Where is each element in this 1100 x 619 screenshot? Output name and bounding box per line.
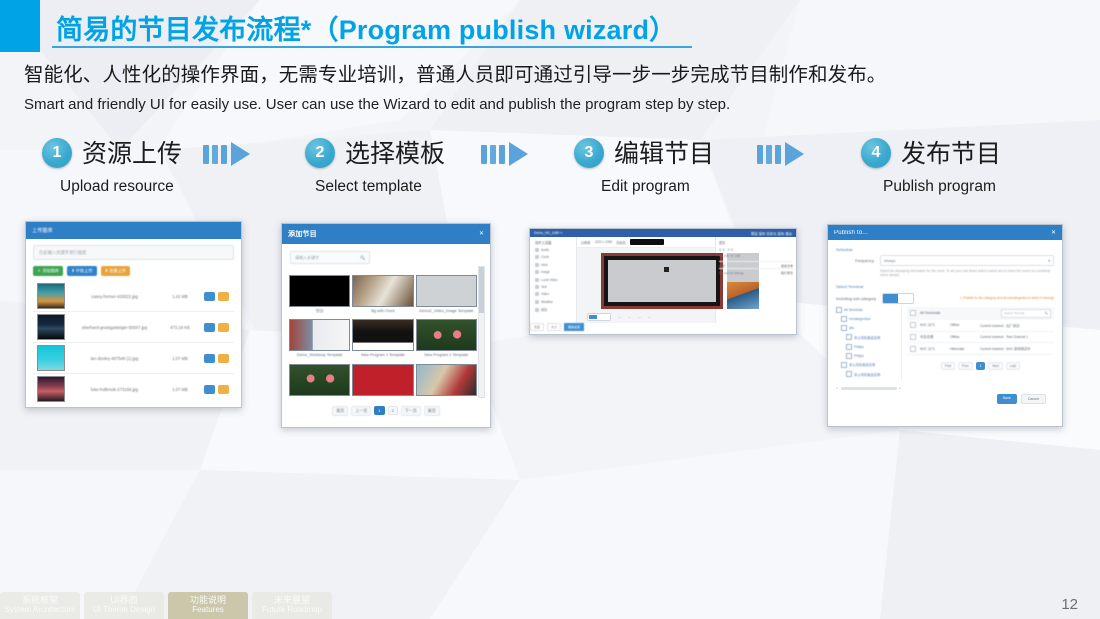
frequency-field: Frequency Always ▾ <box>836 255 1054 266</box>
edit-icon[interactable] <box>204 292 215 301</box>
terminal-name: MJC 1271 <box>920 347 946 351</box>
upload-dialog-footer: 确定 <box>33 404 234 408</box>
resolution-label: 分辨率 <box>581 240 591 245</box>
film-icon <box>535 292 539 296</box>
template-dialog-titlebar: 添加节目 ✕ <box>282 224 490 244</box>
terminal-search-placeholder: Search Terminal <box>1004 311 1024 315</box>
file-name: luke-holbrook-273156.jpg <box>73 387 156 392</box>
upload-dialog-title: 上传图库 <box>32 227 53 234</box>
pagination-first[interactable]: 首页 <box>332 406 348 416</box>
stage-image-placeholder <box>727 282 759 309</box>
pagination-last[interactable]: 尾页 <box>424 406 440 416</box>
template-scrollbar[interactable] <box>478 266 485 398</box>
template-item[interactable]: New Program 1 Template <box>417 319 476 357</box>
arrow-bar <box>212 145 218 164</box>
text-icon <box>535 285 539 289</box>
step-2-label-cn: 选择模板 <box>345 134 445 170</box>
terminal-pagination: First Prev 1 Next Last <box>907 355 1054 370</box>
checkbox-icon <box>841 362 847 368</box>
audio-icon <box>535 248 539 252</box>
checkbox-icon <box>836 307 842 313</box>
terminal-table-header: All Terminals Search Terminal 🔍 <box>907 307 1054 320</box>
table-row[interactable]: ian-dooley-407546 (1).jpg 1.07 MB <box>33 343 234 374</box>
frequency-select[interactable]: Always ▾ <box>880 255 1054 266</box>
include-subcategory-toggle[interactable] <box>882 293 914 304</box>
file-size: 1.07 MB <box>156 356 204 361</box>
step-3-label-cn: 编辑节目 <box>614 134 714 170</box>
table-row[interactable]: eberhard-grossgasteiger-50047.jpg 473.16… <box>33 312 234 343</box>
delete-icon[interactable] <box>218 323 229 332</box>
checkbox-icon <box>846 353 852 359</box>
template-grid: 空白 Bg with Clock Demo2_Video_Image Templ… <box>282 271 490 402</box>
step-4-label-cn: 发布节目 <box>901 134 1001 170</box>
upload-action-buttons: ＋ 添加图库 ⬆ 中批上传 ⬆ 批量上传 <box>33 266 234 276</box>
tree-node-category-2[interactable]: 本公司标准品名称 <box>836 362 898 368</box>
checkbox-icon <box>846 371 852 377</box>
screenshot-edit-program: Demo_HD_1080 × 预览 保存 另存为 发布 退出 控件工具箱 Aud… <box>529 228 797 335</box>
timeline-tick: — <box>628 315 631 319</box>
delete-icon[interactable] <box>218 385 229 394</box>
upload-dialog-body: 在此输入关键字进行搜索 ＋ 添加图库 ⬆ 中批上传 ⬆ 批量上传 casey-h… <box>26 239 241 408</box>
arrow-bar <box>499 145 505 164</box>
scroll-right-icon[interactable]: ▸ <box>900 386 902 390</box>
pagination-page-1[interactable]: 1 <box>976 362 986 370</box>
timeline-tick: — <box>648 315 651 319</box>
step-1-label-en: Upload resource <box>60 178 174 196</box>
template-item[interactable]: 空白 <box>290 275 349 313</box>
step-1-number: 1 <box>42 138 72 168</box>
arrow-bar <box>221 145 227 164</box>
tree-node-category[interactable]: 本公司标准品名称 <box>836 334 898 340</box>
screenshot-upload-resource: 上传图库 在此输入关键字进行搜索 ＋ 添加图库 ⬆ 中批上传 ⬆ 批量上传 ca… <box>25 221 242 408</box>
frequency-value: Always <box>884 259 895 263</box>
file-thumbnail <box>37 376 65 402</box>
step-3-number: 3 <box>574 138 604 168</box>
background-color-label: 背景色 <box>616 240 626 245</box>
step-2-label-en: Select template <box>315 178 422 196</box>
chevron-down-icon: ▾ <box>1048 259 1050 263</box>
resolution-value[interactable]: 1920 x 1080 <box>595 240 613 244</box>
checkbox-icon <box>841 325 847 331</box>
template-label: New Program 1 Template <box>424 353 468 357</box>
upload-button[interactable]: ⬆ 中批上传 <box>67 266 96 276</box>
table-row[interactable]: 中百仓储 Offline Current channel : Test Chan… <box>907 332 1054 344</box>
toolbox-item-image[interactable]: Image <box>535 270 574 274</box>
properties-tabs: 位置 大小 播放设置 <box>530 300 584 331</box>
image-icon <box>535 270 539 274</box>
tree-node-category-3[interactable]: 本公司标准品名称 <box>836 371 898 377</box>
arrow-bar <box>490 145 496 164</box>
arrow-bar <box>766 145 772 164</box>
step-1-label-cn: 资源上传 <box>82 134 182 170</box>
table-row[interactable]: luke-holbrook-273156.jpg 1.07 MB <box>33 374 234 404</box>
properties-row-value: 图片属性 <box>781 271 793 275</box>
tree-node-abc[interactable]: abc <box>836 325 898 331</box>
tab-label-en: Future Roadmap <box>262 606 322 615</box>
schedule-section-title: Schedule <box>836 247 1054 252</box>
file-size: 1.07 MB <box>156 387 204 392</box>
terminal-name: 中百仓储 <box>920 334 946 339</box>
terminal-channel: Current channel : 出厂测试 <box>980 323 1051 328</box>
terminal-search-input[interactable]: Search Terminal 🔍 <box>1001 309 1051 318</box>
template-item[interactable]: Bg with Clock <box>353 275 412 313</box>
template-item[interactable]: Demo_Worldcup Template <box>290 319 349 357</box>
template-preview <box>289 319 350 351</box>
edit-icon[interactable] <box>204 354 215 363</box>
editor-title: Demo_HD_1080 × <box>534 231 562 235</box>
stage-handle[interactable] <box>664 267 669 272</box>
clock-icon <box>535 255 539 259</box>
delete-icon[interactable] <box>218 354 229 363</box>
template-dialog-title: 添加节目 <box>288 229 317 239</box>
template-preview <box>289 364 350 396</box>
template-label: Demo_Worldcup Template <box>297 353 343 357</box>
step-4-label-en: Publish program <box>883 178 996 196</box>
pagination-last[interactable]: Last <box>1006 362 1020 370</box>
close-icon[interactable]: ✕ <box>1051 230 1056 236</box>
terminal-section-title: Select Terminal <box>836 284 1054 289</box>
file-name: eberhard-grossgasteiger-50047.jpg <box>73 325 156 330</box>
row-actions <box>204 323 229 332</box>
pagination-next[interactable]: 下一页 <box>401 406 421 416</box>
tree-node-all-terminals[interactable]: All Terminals <box>836 307 898 313</box>
pagination-first[interactable]: First <box>941 362 955 370</box>
batch-upload-button[interactable]: ⬆ 批量上传 <box>101 266 130 276</box>
pagination-next[interactable]: Next <box>988 362 1003 370</box>
include-subcategory-row: Including sub category ⚠ Publish to the … <box>836 293 1054 304</box>
tab-ui-theme-design[interactable]: UI界面 UI Theme Design <box>84 592 164 619</box>
terminal-status: Offline <box>950 335 976 339</box>
publish-warning-text: ⚠ Publish to the category and all subcat… <box>960 296 1054 300</box>
page-title-cn: 简易的节目发布流程* <box>56 15 312 45</box>
intro-text-en: Smart and friendly UI for easily use. Us… <box>24 96 730 113</box>
template-item[interactable]: Demo2_Video_Image Template <box>417 275 476 313</box>
table-row[interactable]: MJC 1271 Hibernate Current channel : MJC… <box>907 343 1054 355</box>
properties-coords: X: 0 Y: 0 <box>719 248 793 252</box>
tab-label-en: System Architecture <box>4 606 75 615</box>
html-icon <box>535 263 539 267</box>
row-actions <box>204 292 229 301</box>
page-number: 12 <box>1061 596 1078 613</box>
checkbox-icon <box>910 346 916 352</box>
arrow-bar <box>757 145 763 164</box>
arrow-triangle <box>509 142 528 166</box>
template-pagination: 首页 上一页 1 2 下一页 尾页 <box>282 402 490 416</box>
terminal-channel: Current channel : MJC 深圳测试中 <box>980 346 1051 351</box>
toolbox-title: 控件工具箱 <box>535 240 574 245</box>
frequency-hint: Select the displaying information for th… <box>880 269 1054 278</box>
background-color-swatch[interactable] <box>630 239 664 245</box>
toolbox-item-local-video[interactable]: Local Video <box>535 278 574 282</box>
toolbox-item-text[interactable]: Text <box>535 285 574 289</box>
editor-titlebar: Demo_HD_1080 × 预览 保存 另存为 发布 退出 <box>530 229 796 237</box>
editor-canvas-area: 分辨率 1920 x 1080 背景色 — — — — <box>577 237 715 323</box>
arrow-bar <box>775 145 781 164</box>
step-arrow-2-icon <box>481 144 528 164</box>
save-button[interactable]: Save <box>997 394 1017 404</box>
bottom-section-tabs: 系统框架 System Architecture UI界面 UI Theme D… <box>0 588 336 619</box>
template-preview <box>352 275 413 307</box>
intro-text-cn: 智能化、人性化的操作界面，无需专业培训，普通人员即可通过引导一步一步完成节目制作… <box>24 58 886 87</box>
arrow-triangle <box>785 142 804 166</box>
close-icon[interactable]: ✕ <box>479 231 484 237</box>
step-3-label-en: Edit program <box>601 178 690 196</box>
file-size: 473.16 KB <box>156 325 204 330</box>
template-item[interactable] <box>417 364 476 398</box>
template-label: Demo2_Video_Image Template <box>419 309 473 313</box>
template-item[interactable]: New Program 1 Template <box>353 319 412 357</box>
tree-node-philips[interactable]: Philips <box>836 344 898 350</box>
template-label: 空白 <box>316 309 324 313</box>
wizard-steps: 1 资源上传 Upload resource 2 选择模板 Select tem… <box>0 134 1100 206</box>
toolbox-item-html[interactable]: Html <box>535 263 574 267</box>
template-preview <box>289 275 350 307</box>
add-library-button[interactable]: ＋ 添加图库 <box>33 266 63 276</box>
checkbox-icon <box>910 310 916 316</box>
properties-row: Demo2-01-Still.jpg 图片属性 <box>719 268 793 275</box>
pagination-page-2[interactable]: 2 <box>388 406 398 415</box>
stage-inner <box>608 260 716 302</box>
properties-row-name: Demo2-01-Still.jpg <box>719 271 744 275</box>
checkbox-icon <box>841 316 847 322</box>
header-accent-bar <box>0 0 40 52</box>
delete-icon[interactable] <box>218 292 229 301</box>
table-row[interactable]: MJC 2271 Offline Current channel : 出厂测试 <box>907 320 1054 332</box>
editor-stage[interactable] <box>601 253 723 309</box>
pagination-page-1[interactable]: 1 <box>374 406 384 415</box>
table-row[interactable]: casey-horner-429322.jpg 1.42 MB <box>33 281 234 312</box>
publish-dialog-body: Schedule Frequency Always ▾ Select the d… <box>828 240 1062 409</box>
template-preview <box>416 364 477 396</box>
publish-dialog-footer: Save Cancel <box>836 390 1054 404</box>
publish-dialog-title: Publish to... <box>834 230 868 236</box>
step-2-number: 2 <box>305 138 335 168</box>
template-item[interactable] <box>353 364 412 398</box>
search-icon[interactable]: 🔍 <box>360 255 365 260</box>
checkbox-icon <box>846 334 852 340</box>
checkbox-icon <box>910 334 916 340</box>
terminal-table-header-label: All Terminals <box>920 311 940 315</box>
template-preview <box>416 275 477 307</box>
file-thumbnail <box>37 345 65 371</box>
editor-toolbar: 分辨率 1920 x 1080 背景色 <box>577 237 715 248</box>
row-actions <box>204 385 229 394</box>
frequency-label: Frequency <box>836 258 874 263</box>
terminal-name: MJC 2271 <box>920 323 946 327</box>
scroll-left-icon[interactable]: ◂ <box>836 386 838 390</box>
template-search-placeholder: 请输入关键字 <box>295 255 319 261</box>
properties-title: 属性 <box>719 240 793 245</box>
tree-node-philips-2[interactable]: Philips <box>836 353 898 359</box>
tab-label-en: UI Theme Design <box>93 606 155 615</box>
edit-icon[interactable] <box>204 385 215 394</box>
timeline-tick: — <box>638 315 641 319</box>
header-underline <box>52 46 692 48</box>
timeline-tick: — <box>618 315 621 319</box>
template-preview <box>416 319 477 351</box>
include-subcategory-label: Including sub category <box>836 296 876 301</box>
screenshot-publish-program: Publish to... ✕ Schedule Frequency Alway… <box>827 224 1063 427</box>
terminal-status: Hibernate <box>950 347 976 351</box>
toolbox-item-audio[interactable]: Audio <box>535 248 574 252</box>
template-label: New Program 1 Template <box>361 353 405 357</box>
file-name: casey-horner-429322.jpg <box>73 294 156 299</box>
edit-icon[interactable] <box>204 323 215 332</box>
toolbox-item-clock[interactable]: Clock <box>535 255 574 259</box>
arrow-triangle <box>231 142 250 166</box>
tab-playback[interactable]: 播放设置 <box>564 323 584 331</box>
page-title: 简易的节目发布流程*（Program publish wizard） <box>56 8 676 47</box>
search-icon[interactable]: 🔍 <box>1045 311 1048 315</box>
zoom-slider[interactable] <box>587 313 611 321</box>
checkbox-icon <box>910 322 916 328</box>
publish-dialog-titlebar: Publish to... ✕ <box>828 225 1062 240</box>
terminal-status: Offline <box>950 323 976 327</box>
file-size: 1.42 MB <box>156 294 204 299</box>
properties-size: W: 100 H: 100 <box>719 254 793 258</box>
template-item[interactable] <box>290 364 349 398</box>
template-preview <box>352 364 413 396</box>
upload-dialog-titlebar: 上传图库 <box>26 222 241 239</box>
video-icon <box>535 278 539 282</box>
properties-row: 名称 播放清单 <box>719 261 793 268</box>
page-title-en: （Program publish wizard） <box>312 15 677 45</box>
step-arrow-3-icon <box>757 144 804 164</box>
tab-position[interactable]: 位置 <box>530 323 544 331</box>
editor-timeline-bar: — — — — <box>577 313 769 321</box>
template-label: Bg with Clock <box>371 309 395 313</box>
file-thumbnail <box>37 283 65 309</box>
template-preview <box>352 319 413 351</box>
checkbox-icon <box>846 344 852 350</box>
toolbox-item-video[interactable]: Video <box>535 292 574 296</box>
tab-label-en: Features <box>192 606 224 615</box>
file-thumbnail <box>37 314 65 340</box>
tab-size[interactable]: 大小 <box>547 323 561 331</box>
terminal-table: All Terminals Search Terminal 🔍 MJC 2271… <box>907 307 1054 381</box>
terminal-category-tree: All Terminals Uncategorized abc 本公司标准品名称… <box>836 307 902 381</box>
step-4-number: 4 <box>861 138 891 168</box>
slide-header: 简易的节目发布流程*（Program publish wizard） <box>0 0 1100 52</box>
terminal-channel: Current channel : Test Channel 1 <box>980 335 1051 339</box>
arrow-bar <box>203 145 209 164</box>
row-actions <box>204 354 229 363</box>
editor-topbar-actions[interactable]: 预览 保存 另存为 发布 退出 <box>751 231 792 236</box>
pagination-prev[interactable]: 上一页 <box>351 406 371 416</box>
tree-node-uncategorized[interactable]: Uncategorized <box>836 316 898 322</box>
screenshot-select-template: 添加节目 ✕ 请输入关键字 🔍 空白 Bg with Clock Demo2_V… <box>281 223 491 428</box>
tab-features[interactable]: 功能说明 Features <box>168 592 248 619</box>
step-arrow-1-icon <box>203 144 250 164</box>
upload-search-input[interactable]: 在此输入关键字进行搜索 <box>33 245 234 260</box>
pagination-prev[interactable]: Prev <box>958 362 973 370</box>
publish-columns: All Terminals Uncategorized abc 本公司标准品名称… <box>836 307 1054 381</box>
arrow-bar <box>481 145 487 164</box>
file-name: ian-dooley-407546 (1).jpg <box>73 356 156 361</box>
template-search-input[interactable]: 请输入关键字 🔍 <box>290 251 370 264</box>
cancel-button[interactable]: Cancel <box>1021 394 1046 404</box>
tab-system-architecture[interactable]: 系统框架 System Architecture <box>0 592 80 619</box>
editor-main: 控件工具箱 Audio Clock Html Image Local Video… <box>530 237 796 323</box>
tab-future-roadmap[interactable]: 未来展望 Future Roadmap <box>252 592 332 619</box>
